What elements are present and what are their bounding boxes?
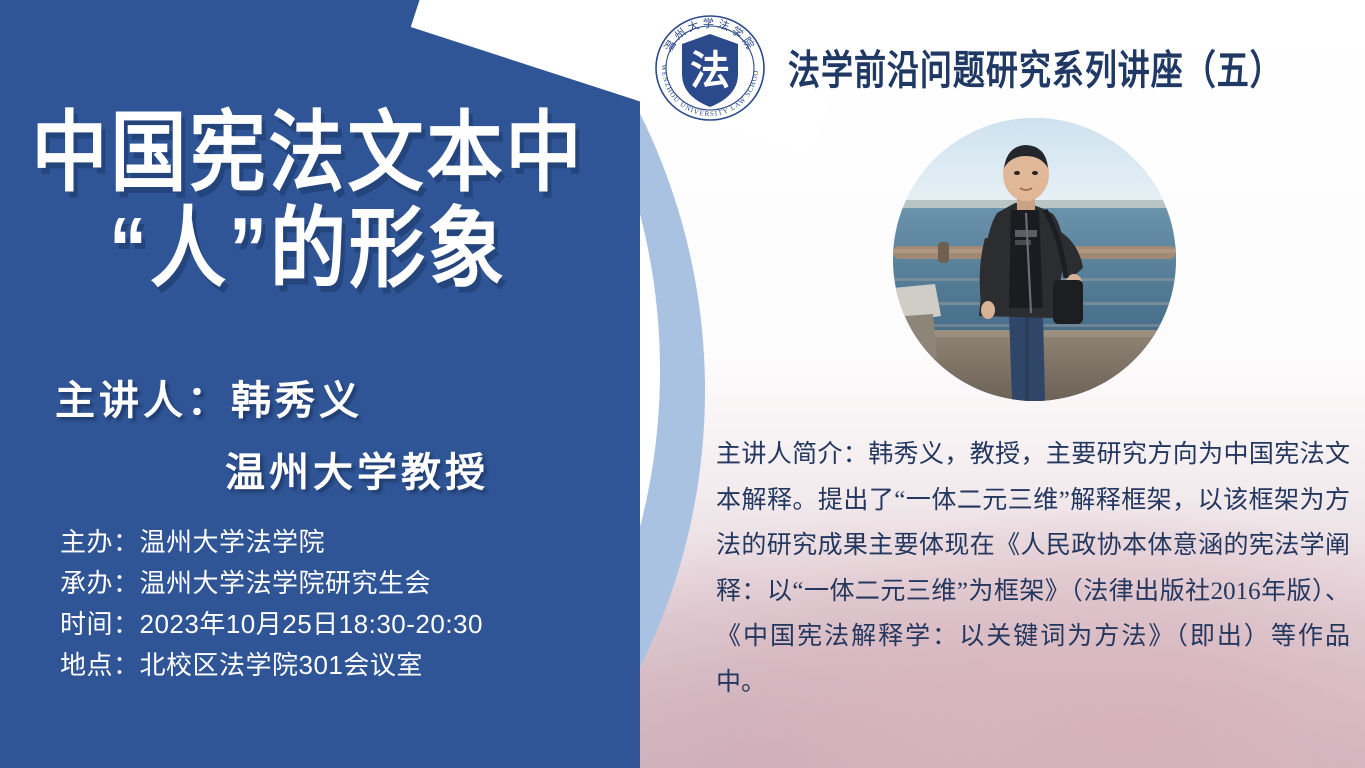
title-line-2: “人”的形象 xyxy=(8,206,608,294)
speaker-biography: 主讲人简介：韩秀义，教授，主要研究方向为中国宪法文本解释。提出了“一体二元三维”… xyxy=(716,432,1350,705)
detail-co-organizer: 承办：温州大学法学院研究生会 xyxy=(60,563,483,604)
poster-header: 温州大学法学院 WENZHOU UNIVERSITY LAW SCHOOL 法 … xyxy=(650,8,1350,126)
wenzhou-university-law-school-logo-icon: 温州大学法学院 WENZHOU UNIVERSITY LAW SCHOOL 法 xyxy=(650,8,770,126)
speaker-block: 主讲人：韩秀义 温州大学教授 xyxy=(55,368,575,498)
detail-time: 时间：2023年10月25日18:30-20:30 xyxy=(60,604,483,645)
speaker-affiliation: 温州大学教授 xyxy=(225,440,575,498)
page-title: 中国宪法文本中 “人”的形象 xyxy=(8,110,608,282)
speaker-photo xyxy=(893,118,1176,401)
speaker-name: 主讲人：韩秀义 xyxy=(55,368,575,426)
title-line-1: 中国宪法文本中 xyxy=(8,110,608,198)
lecture-poster: 温州大学法学院 WENZHOU UNIVERSITY LAW SCHOOL 法 … xyxy=(0,0,1365,768)
svg-text:法: 法 xyxy=(690,48,730,93)
detail-organizer: 主办：温州大学法学院 xyxy=(60,522,483,563)
event-details: 主办：温州大学法学院 承办：温州大学法学院研究生会 时间：2023年10月25日… xyxy=(60,522,483,686)
series-title: 法学前沿问题研究系列讲座（五） xyxy=(788,38,1283,97)
detail-location: 地点：北校区法学院301会议室 xyxy=(60,645,483,686)
